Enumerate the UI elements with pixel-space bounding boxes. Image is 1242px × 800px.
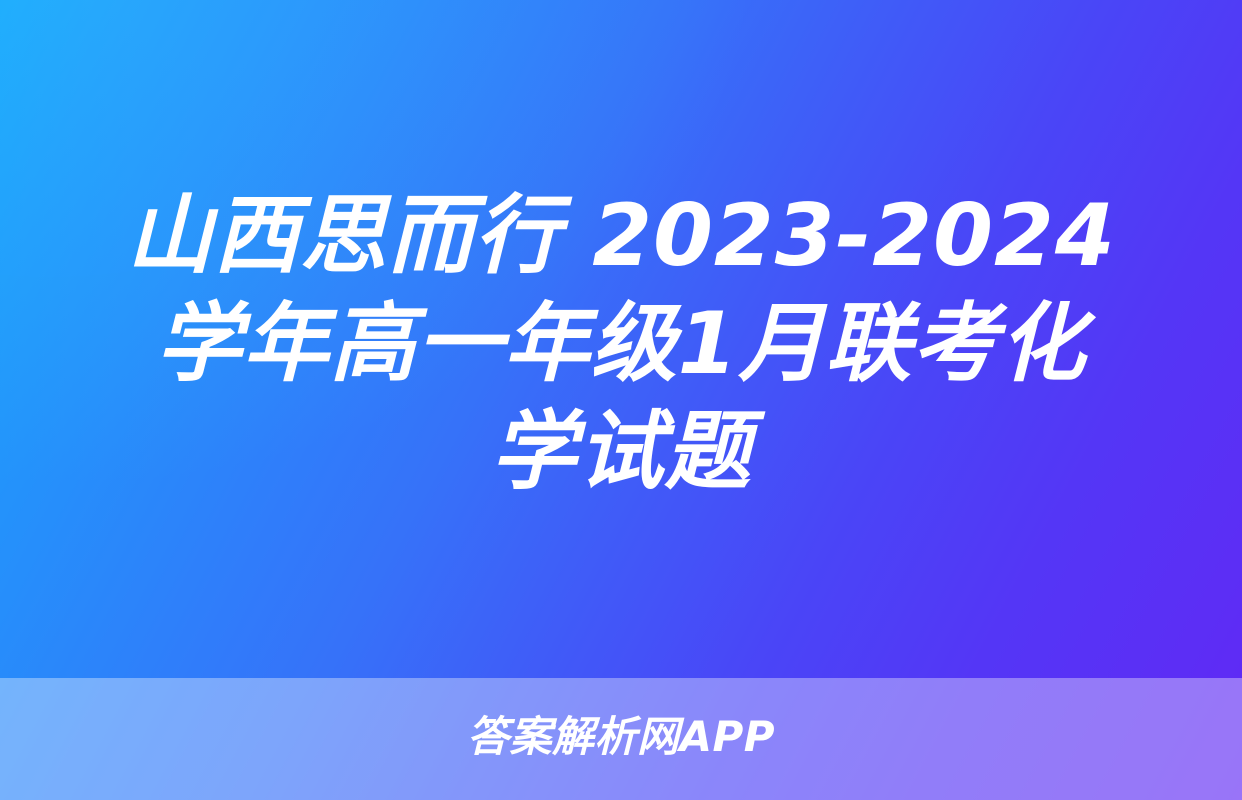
title-line-2: 学年高一年级1月联考化 xyxy=(70,290,1172,398)
poster-canvas: 山西思而行 2023-2024 学年高一年级1月联考化 学试题 答案解析网APP xyxy=(0,0,1242,800)
watermark-band: 答案解析网APP xyxy=(0,678,1242,800)
page-title: 山西思而行 2023-2024 学年高一年级1月联考化 学试题 xyxy=(0,182,1242,506)
title-line-1: 山西思而行 2023-2024 xyxy=(70,182,1172,290)
watermark-text: 答案解析网APP xyxy=(467,715,775,759)
title-line-3: 学试题 xyxy=(70,398,1172,506)
